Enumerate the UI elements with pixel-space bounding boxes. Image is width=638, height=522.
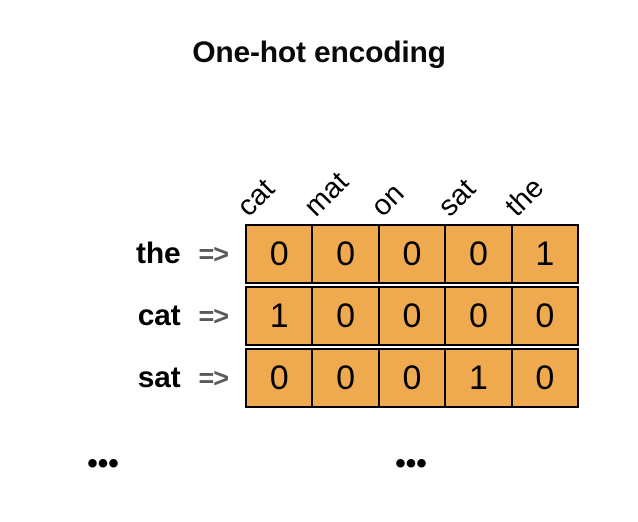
matrix-cell: 0 [446,288,512,344]
ellipsis-rows: ••• [87,449,119,479]
ellipsis-matrix: ••• [395,449,427,479]
matrix-cell: 0 [247,226,313,282]
matrix-cell: 0 [513,288,577,344]
column-header-group: cat mat on sat the [245,126,579,222]
table-row: 1 0 0 0 0 [245,286,579,346]
row-arrow-the: => [198,239,228,270]
matrix-cell: 1 [446,350,512,406]
page-title: One-hot encoding [0,36,638,70]
row-label-cat: cat => [0,286,238,346]
row-arrow-cat: => [198,301,228,332]
matrix-cell: 0 [380,288,446,344]
matrix-cell: 1 [513,226,577,282]
matrix-cell: 0 [247,350,313,406]
one-hot-matrix: 0 0 0 0 1 1 0 0 0 0 0 0 0 1 0 [245,224,579,408]
matrix-cell: 0 [380,350,446,406]
table-row: 0 0 0 1 0 [245,348,579,408]
column-header-sat: sat [433,174,481,222]
matrix-cell: 0 [513,350,577,406]
row-label-sat: sat => [0,348,238,408]
column-header-mat: mat [299,167,354,222]
row-word-cat: cat [138,299,181,333]
matrix-cell: 0 [380,226,446,282]
column-header-on: on [366,179,409,222]
matrix-cell: 0 [446,226,512,282]
table-row: 0 0 0 0 1 [245,224,579,284]
row-word-the: the [136,237,180,271]
column-header-the: the [500,173,549,222]
row-arrow-sat: => [198,363,228,394]
matrix-cell: 1 [247,288,313,344]
row-word-sat: sat [138,361,181,395]
row-label-the: the => [0,224,238,284]
matrix-cell: 0 [313,226,379,282]
matrix-cell: 0 [313,350,379,406]
matrix-cell: 0 [313,288,379,344]
column-header-cat: cat [232,174,280,222]
